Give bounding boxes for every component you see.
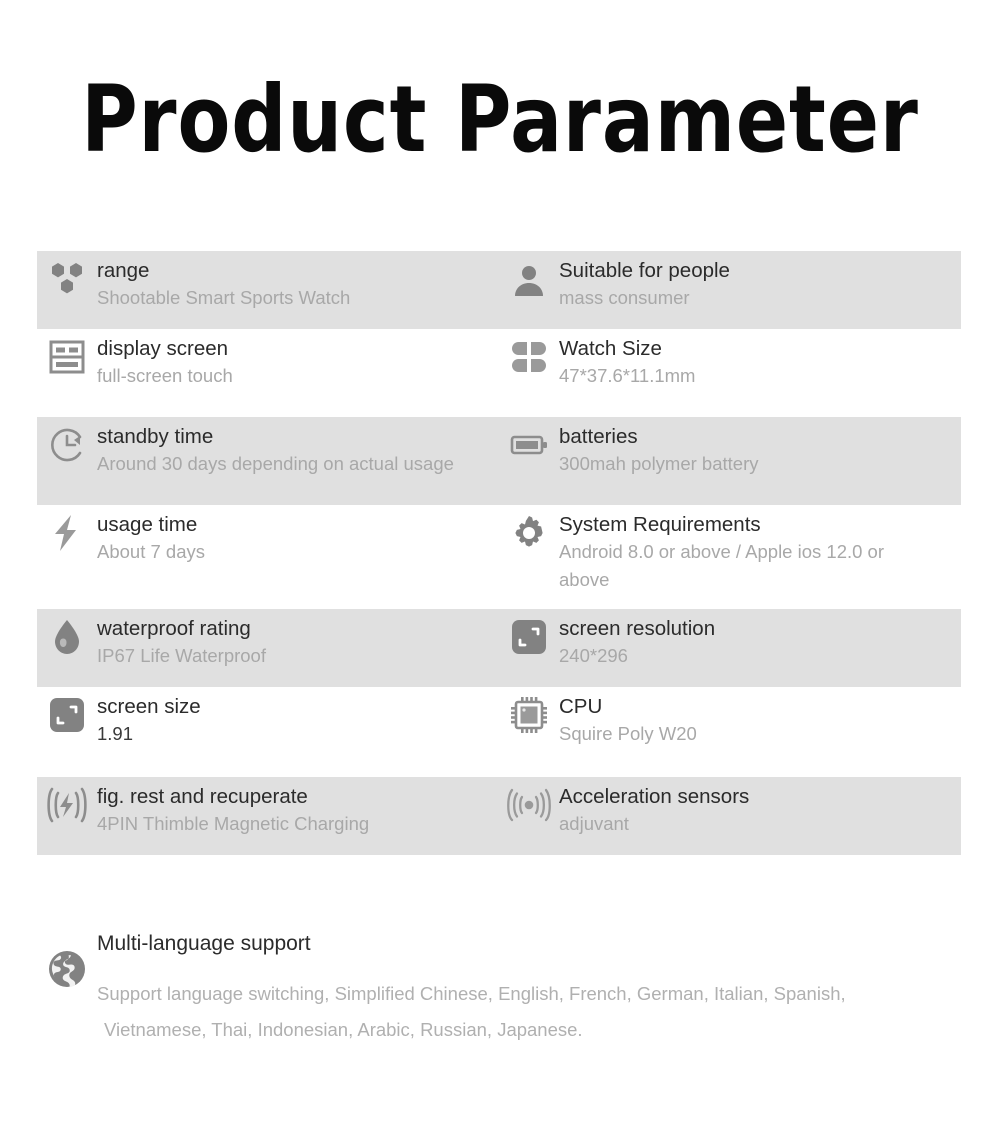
spec-texts: Watch Size 47*37.6*11.1mm [559, 329, 961, 390]
spec-item-screen-resolution: screen resolution 240*296 [499, 609, 961, 687]
hexagon-cluster-icon [37, 251, 97, 303]
spec-label: batteries [559, 424, 955, 450]
table-row: range Shootable Smart Sports Watch Suita… [37, 251, 961, 329]
table-row: standby time Around 30 days depending on… [37, 417, 961, 505]
spec-value: Android 8.0 or above / Apple ios 12.0 or… [559, 538, 919, 594]
spec-value: Around 30 days depending on actual usage [97, 450, 493, 478]
spec-item-cpu: CPU Squire Poly W20 [499, 687, 961, 777]
water-droplet-icon [37, 609, 97, 661]
table-row: fig. rest and recuperate 4PIN Thimble Ma… [37, 777, 961, 855]
spec-texts: Acceleration sensors adjuvant [559, 777, 961, 838]
spec-value: adjuvant [559, 810, 955, 838]
spec-texts: range Shootable Smart Sports Watch [97, 251, 499, 312]
spec-value: 47*37.6*11.1mm [559, 362, 955, 390]
spec-label: screen resolution [559, 616, 955, 642]
multi-language-line-2: Vietnamese, Thai, Indonesian, Arabic, Ru… [97, 1012, 967, 1048]
spec-texts: screen resolution 240*296 [559, 609, 961, 670]
table-row: usage time About 7 days System Requireme… [37, 505, 961, 609]
spec-value: full-screen touch [97, 362, 493, 390]
spec-value: mass consumer [559, 284, 955, 312]
spec-item-batteries: batteries 300mah polymer battery [499, 417, 961, 505]
table-row: waterproof rating IP67 Life Waterproof s… [37, 609, 961, 687]
spec-texts: usage time About 7 days [97, 505, 499, 566]
spec-item-display-screen: display screen full-screen touch [37, 329, 499, 417]
globe-icon [37, 929, 97, 989]
spec-value: IP67 Life Waterproof [97, 642, 493, 670]
spec-item-waterproof-rating: waterproof rating IP67 Life Waterproof [37, 609, 499, 687]
cpu-chip-icon [499, 687, 559, 739]
spec-label: usage time [97, 512, 493, 538]
product-parameter-page: Product Parameter range Shootable S [0, 0, 1000, 1131]
spec-item-suitable-for-people: Suitable for people mass consumer [499, 251, 961, 329]
spec-item-acceleration-sensors: Acceleration sensors adjuvant [499, 777, 961, 855]
spec-item-standby-time: standby time Around 30 days depending on… [37, 417, 499, 505]
spec-value: Squire Poly W20 [559, 720, 955, 748]
lightning-bolt-icon [37, 505, 97, 557]
spec-texts: screen size 1.91 [97, 687, 499, 748]
expand-screen-icon [499, 609, 559, 661]
table-row: display screen full-screen touch [37, 329, 961, 417]
spec-label: range [97, 258, 493, 284]
spec-texts: standby time Around 30 days depending on… [97, 417, 499, 478]
spec-texts: waterproof rating IP67 Life Waterproof [97, 609, 499, 670]
spec-texts: display screen full-screen touch [97, 329, 499, 390]
spec-table: range Shootable Smart Sports Watch Suita… [37, 251, 961, 855]
spec-label: standby time [97, 424, 493, 450]
clock-refresh-icon [37, 417, 97, 469]
gear-icon [499, 505, 559, 557]
spec-label: waterproof rating [97, 616, 493, 642]
spec-label: screen size [97, 694, 493, 720]
spec-item-fig-rest-and-recuperate: fig. rest and recuperate 4PIN Thimble Ma… [37, 777, 499, 855]
spec-label: CPU [559, 694, 955, 720]
spec-texts: batteries 300mah polymer battery [559, 417, 961, 478]
spec-label: Suitable for people [559, 258, 955, 284]
spec-value: 4PIN Thimble Magnetic Charging [97, 810, 493, 838]
spec-value: Shootable Smart Sports Watch [97, 284, 493, 312]
spec-item-range: range Shootable Smart Sports Watch [37, 251, 499, 329]
wireless-charging-icon [37, 777, 97, 829]
spec-label: fig. rest and recuperate [97, 784, 493, 810]
page-title: Product Parameter [35, 70, 965, 170]
spec-texts: System Requirements Android 8.0 or above… [559, 505, 961, 594]
multi-language-line-1: Support language switching, Simplified C… [97, 976, 967, 1012]
signal-sensor-icon [499, 777, 559, 829]
spec-texts: fig. rest and recuperate 4PIN Thimble Ma… [97, 777, 499, 838]
spec-item-system-requirements: System Requirements Android 8.0 or above… [499, 505, 961, 609]
spec-item-usage-time: usage time About 7 days [37, 505, 499, 609]
spec-label: display screen [97, 336, 493, 362]
four-petal-icon [499, 329, 559, 381]
display-screen-icon [37, 329, 97, 381]
spec-label: Acceleration sensors [559, 784, 955, 810]
spec-value: 240*296 [559, 642, 955, 670]
person-icon [499, 251, 559, 303]
spec-value: About 7 days [97, 538, 493, 566]
spec-label: Watch Size [559, 336, 955, 362]
spec-value: 300mah polymer battery [559, 450, 955, 478]
spec-texts: CPU Squire Poly W20 [559, 687, 961, 748]
expand-screen-icon [37, 687, 97, 739]
multi-language-title: Multi-language support [97, 929, 967, 959]
table-row: screen size 1.91 [37, 687, 961, 777]
spec-item-screen-size: screen size 1.91 [37, 687, 499, 777]
spec-texts: Suitable for people mass consumer [559, 251, 961, 312]
spec-label: System Requirements [559, 512, 955, 538]
multi-language-support-block: Multi-language support Support language … [37, 929, 967, 1048]
battery-icon [499, 417, 559, 469]
spec-value: 1.91 [97, 720, 493, 748]
spec-item-watch-size: Watch Size 47*37.6*11.1mm [499, 329, 961, 417]
multi-language-texts: Multi-language support Support language … [97, 929, 967, 1048]
